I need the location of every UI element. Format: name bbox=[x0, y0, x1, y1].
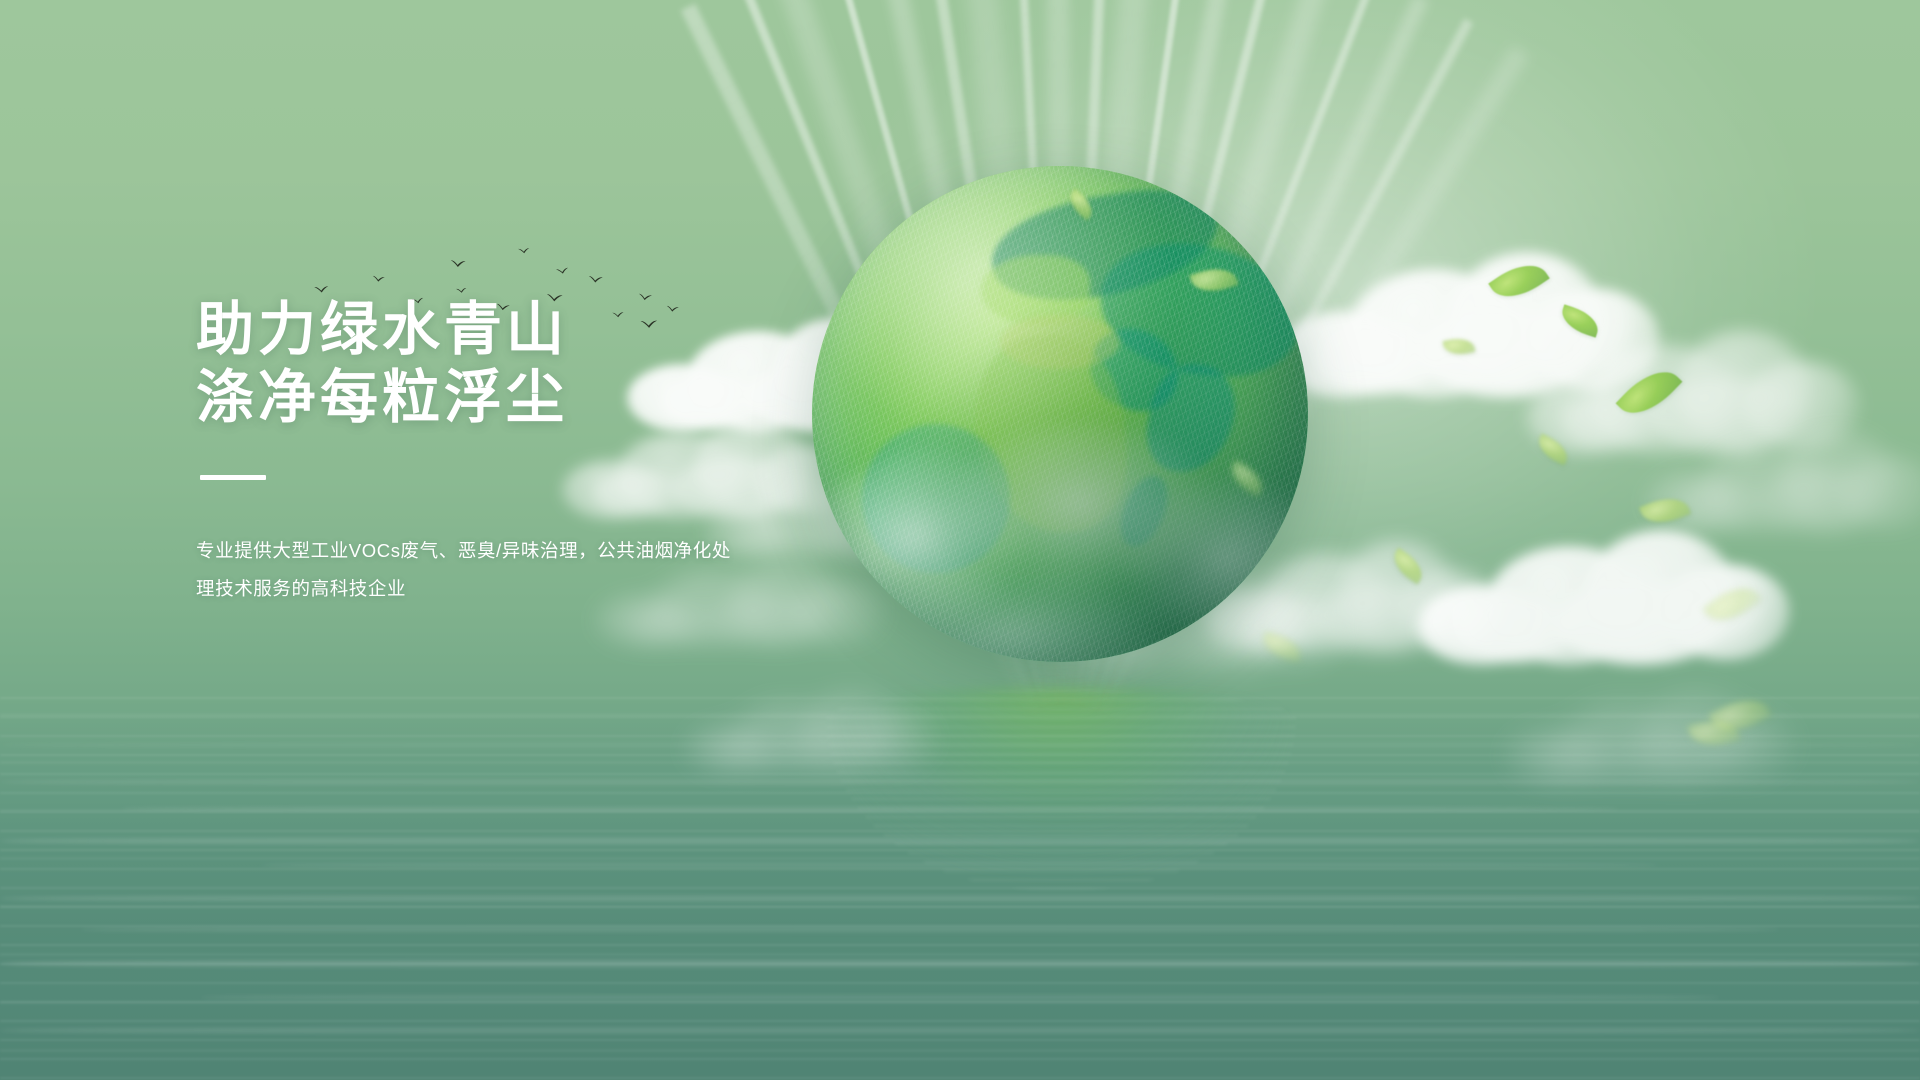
hero-banner: 助力绿水青山 涤净每粒浮尘 专业提供大型工业VOCs废气、恶臭/异味治理，公共油… bbox=[0, 0, 1920, 1080]
green-earth-globe bbox=[812, 166, 1308, 662]
banner-copy: 助力绿水青山 涤净每粒浮尘 专业提供大型工业VOCs废气、恶臭/异味治理，公共油… bbox=[196, 296, 836, 608]
globe-sphere bbox=[812, 166, 1308, 662]
bird-icon bbox=[372, 275, 386, 283]
bird-icon bbox=[556, 267, 570, 275]
water-ripple bbox=[0, 958, 1920, 969]
bird-icon bbox=[456, 287, 468, 294]
bird-icon bbox=[588, 275, 604, 284]
title-divider bbox=[200, 475, 266, 480]
page-title: 助力绿水青山 涤净每粒浮尘 bbox=[196, 296, 836, 433]
water-ripple bbox=[0, 1026, 1920, 1035]
water-ripple bbox=[0, 894, 1920, 903]
globe-shading bbox=[812, 166, 1308, 662]
bird-icon bbox=[518, 247, 530, 254]
bird-icon bbox=[314, 285, 329, 294]
headline-line-1: 助力绿水青山 bbox=[196, 297, 568, 362]
banner-subcopy: 专业提供大型工业VOCs废气、恶臭/异味治理，公共油烟净化处理技术服务的高科技企… bbox=[196, 532, 736, 608]
headline-line-2: 涤净每粒浮尘 bbox=[196, 364, 836, 432]
water-ripple bbox=[200, 994, 1720, 1001]
bird-icon bbox=[450, 260, 466, 269]
water-ripple bbox=[80, 926, 1780, 933]
